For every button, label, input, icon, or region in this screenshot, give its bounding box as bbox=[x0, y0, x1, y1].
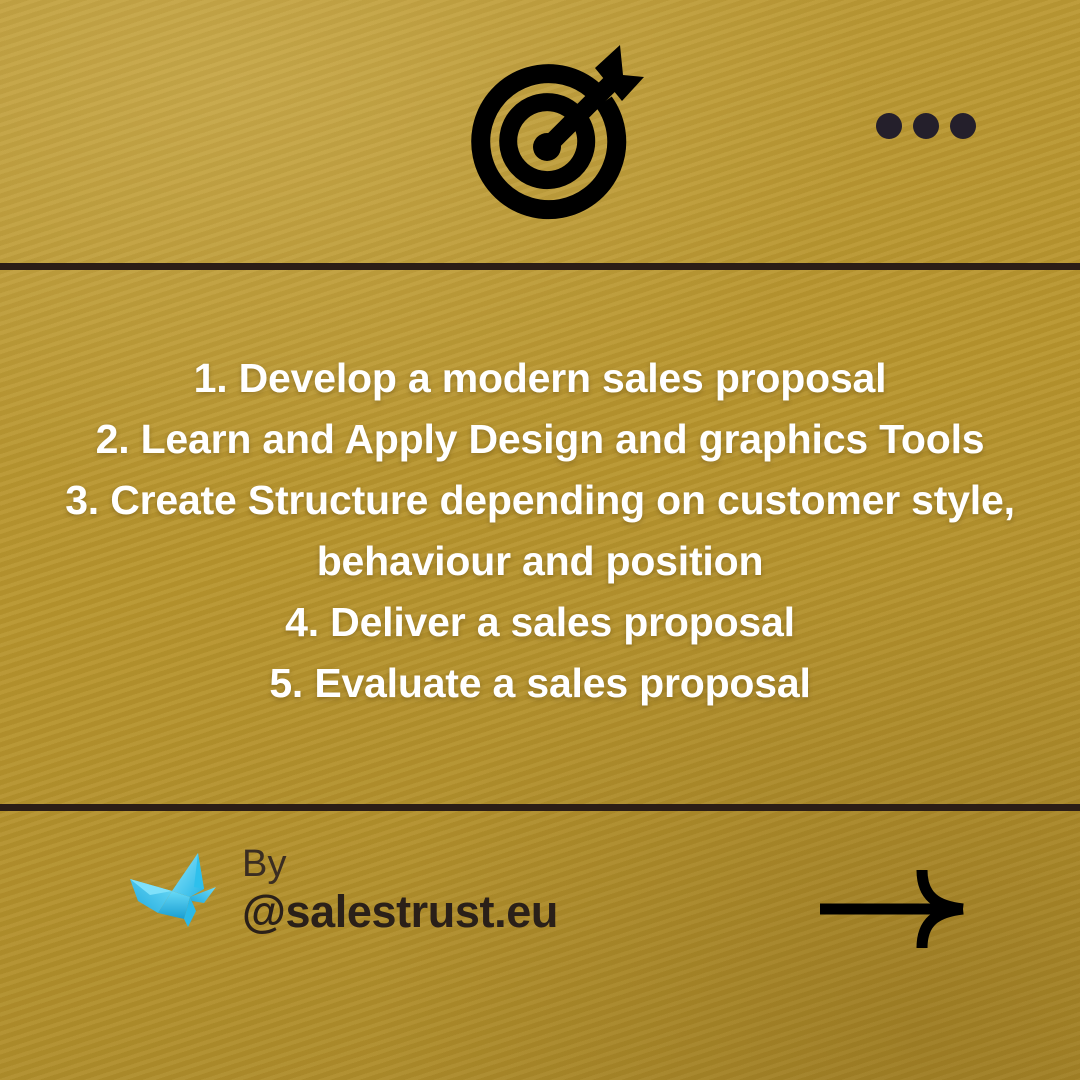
dot-1 bbox=[876, 113, 902, 139]
objective-item-5: 5. Evaluate a sales proposal bbox=[40, 653, 1040, 714]
byline-block: By @salestrust.eu bbox=[128, 845, 558, 934]
account-handle: @salestrust.eu bbox=[242, 889, 558, 934]
dot-2 bbox=[913, 113, 939, 139]
objective-item-1: 1. Develop a modern sales proposal bbox=[40, 348, 1040, 409]
byline-prefix: By bbox=[242, 845, 558, 883]
byline-text: By @salestrust.eu bbox=[242, 845, 558, 934]
more-options-dots-icon[interactable] bbox=[876, 108, 976, 144]
divider-top bbox=[0, 263, 1080, 270]
arrow-right-icon[interactable] bbox=[818, 866, 980, 952]
dot-3 bbox=[950, 113, 976, 139]
target-bullseye-arrow-icon bbox=[447, 43, 647, 243]
objective-item-3: 3. Create Structure depending on custome… bbox=[40, 470, 1040, 592]
objective-item-4: 4. Deliver a sales proposal bbox=[40, 592, 1040, 653]
objectives-list: 1. Develop a modern sales proposal 2. Le… bbox=[40, 348, 1040, 714]
origami-crane-icon bbox=[128, 847, 220, 933]
objective-item-2: 2. Learn and Apply Design and graphics T… bbox=[40, 409, 1040, 470]
social-post-slide: 1. Develop a modern sales proposal 2. Le… bbox=[0, 0, 1080, 1080]
divider-bottom bbox=[0, 804, 1080, 811]
